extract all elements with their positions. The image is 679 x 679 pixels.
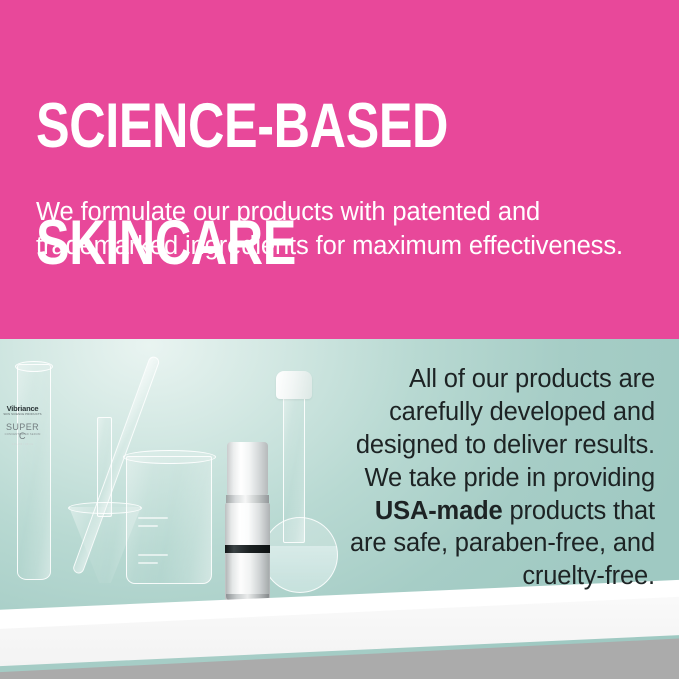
body-copy-text: All of our products are carefully develo… bbox=[349, 363, 655, 593]
test-tube-rim-icon bbox=[15, 361, 53, 372]
beaker-graduation-mark bbox=[138, 517, 168, 519]
beaker-graduation-mark bbox=[138, 525, 158, 527]
product-bottle bbox=[225, 442, 270, 602]
beaker-graduation-mark bbox=[138, 554, 168, 556]
page-title-line-1: SCIENCE-BASED bbox=[36, 97, 516, 156]
beaker-graduation-mark bbox=[138, 562, 158, 564]
test-tube-icon bbox=[17, 364, 51, 580]
bottle-brand-tagline: SKIN SCIENCE PRODUCTS bbox=[3, 413, 42, 416]
volumetric-flask-stopper-icon bbox=[276, 371, 312, 399]
product-photo-panel: Vibriance SKIN SCIENCE PRODUCTS SUPER C … bbox=[0, 339, 679, 679]
page-title: SCIENCE-BASED SKINCARE bbox=[36, 38, 516, 331]
body-copy-part-1: All of our products are carefully develo… bbox=[356, 365, 655, 492]
marketing-banner: SCIENCE-BASED SKINCARE We formulate our … bbox=[0, 0, 679, 679]
body-copy-emphasis: USA-made bbox=[375, 497, 503, 525]
bottle-band bbox=[225, 545, 270, 553]
subheading-text: We formulate our products with patented … bbox=[36, 196, 644, 264]
bottle-product-subtitle: CONCENTRATED SERUM bbox=[3, 433, 42, 436]
graduated-beaker-icon bbox=[126, 456, 212, 584]
volumetric-flask-neck-icon bbox=[283, 393, 305, 543]
bottle-collar bbox=[226, 495, 269, 503]
bottle-cap bbox=[227, 442, 268, 495]
beaker-rim-icon bbox=[123, 450, 216, 464]
science-based-skincare-panel: SCIENCE-BASED SKINCARE We formulate our … bbox=[0, 0, 679, 339]
laboratory-glassware-scene: Vibriance SKIN SCIENCE PRODUCTS SUPER C … bbox=[0, 339, 360, 679]
bottle-volume-label: 1 FL OZ / 30 mL bbox=[3, 444, 42, 447]
